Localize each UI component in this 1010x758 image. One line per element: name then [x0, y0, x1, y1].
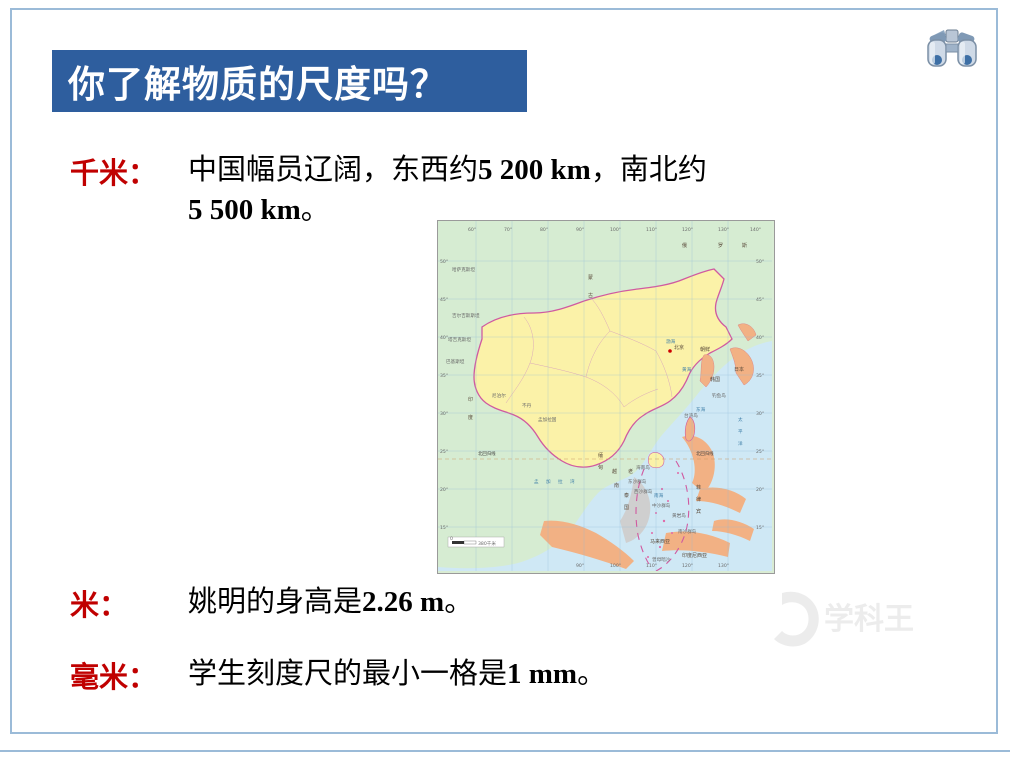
row-metre: 米： 姚明的身高是2.26 m。	[70, 582, 970, 624]
svg-text:北回归线: 北回归线	[696, 450, 714, 457]
row-kilometre-text-end: 。	[301, 192, 330, 226]
svg-text:中沙群岛: 中沙群岛	[652, 502, 671, 509]
svg-text:90°: 90°	[576, 563, 584, 569]
svg-text:110°: 110°	[646, 563, 657, 569]
svg-text:北回归线: 北回归线	[478, 450, 496, 457]
svg-text:30°: 30°	[756, 411, 764, 417]
svg-text:律: 律	[696, 496, 701, 503]
svg-text:尼泊尔: 尼泊尔	[492, 392, 506, 399]
svg-text:孟: 孟	[534, 478, 539, 485]
svg-text:罗: 罗	[718, 243, 723, 249]
svg-text:20°: 20°	[440, 487, 448, 493]
row-kilometre-value1: 5 200 km	[478, 154, 591, 186]
svg-text:黄海: 黄海	[682, 366, 692, 373]
svg-text:110°: 110°	[646, 227, 657, 233]
row-metre-label: 米：	[70, 582, 188, 624]
svg-text:古: 古	[588, 292, 593, 299]
svg-text:孟加拉国: 孟加拉国	[538, 416, 557, 423]
svg-text:80°: 80°	[540, 227, 548, 233]
slide-frame: 你了解物质的尺度吗？ 千米： 中	[10, 8, 998, 734]
svg-text:130°: 130°	[718, 563, 729, 569]
svg-text:南沙群岛: 南沙群岛	[678, 528, 697, 535]
svg-text:巴基斯坦: 巴基斯坦	[446, 358, 465, 365]
row-millimetre-value1: 1 mm	[507, 658, 577, 690]
svg-text:120°: 120°	[682, 563, 693, 569]
svg-text:拉: 拉	[558, 478, 563, 485]
svg-text:50°: 50°	[440, 259, 448, 265]
svg-text:25°: 25°	[756, 449, 764, 455]
svg-text:东沙群岛: 东沙群岛	[628, 478, 647, 485]
svg-text:西沙群岛: 西沙群岛	[634, 488, 653, 495]
svg-text:380千米: 380千米	[478, 540, 496, 547]
svg-text:45°: 45°	[756, 297, 764, 303]
bottom-divider	[0, 750, 1010, 752]
svg-text:蒙: 蒙	[588, 274, 593, 281]
svg-text:海南岛: 海南岛	[636, 464, 650, 471]
svg-text:甸: 甸	[598, 464, 603, 471]
svg-text:不丹: 不丹	[522, 403, 532, 409]
svg-text:曾母暗沙: 曾母暗沙	[652, 556, 671, 563]
svg-text:40°: 40°	[756, 335, 764, 341]
row-kilometre-text-part1: 中国幅员辽阔，东西约	[188, 152, 478, 186]
svg-text:东海: 东海	[696, 406, 706, 413]
svg-text:0: 0	[450, 536, 453, 542]
svg-text:老: 老	[628, 468, 633, 475]
svg-text:35°: 35°	[756, 373, 764, 379]
svg-text:度: 度	[468, 414, 473, 421]
row-kilometre-label: 千米：	[70, 150, 188, 192]
row-millimetre: 毫米： 学生刻度尺的最小一格是1 mm。	[70, 654, 970, 696]
svg-text:100°: 100°	[610, 563, 621, 569]
svg-text:泰: 泰	[624, 492, 629, 499]
china-map-image: .g{font-family:"DejaVu Sans",sans-serif;…	[437, 220, 775, 574]
svg-text:南: 南	[614, 482, 619, 489]
svg-text:塔吉克斯坦: 塔吉克斯坦	[448, 336, 471, 343]
svg-text:45°: 45°	[440, 297, 448, 303]
svg-text:北京: 北京	[674, 344, 684, 351]
row-kilometre: 千米： 中国幅员辽阔，东西约5 200 km，南北约5 500 km。	[70, 150, 970, 230]
svg-text:俄: 俄	[682, 242, 687, 249]
row-metre-value1: 2.26 m	[362, 586, 444, 618]
svg-text:吉尔吉斯斯坦: 吉尔吉斯斯坦	[452, 312, 480, 319]
svg-text:100°: 100°	[610, 227, 621, 233]
svg-text:洋: 洋	[738, 440, 743, 447]
slide-title-banner: 你了解物质的尺度吗？	[52, 50, 527, 112]
svg-text:马来西亚: 马来西亚	[650, 538, 670, 545]
svg-text:湾: 湾	[570, 478, 575, 485]
svg-text:南海: 南海	[654, 492, 664, 499]
svg-text:台湾岛: 台湾岛	[684, 412, 698, 419]
svg-text:30°: 30°	[440, 411, 448, 417]
svg-text:缅: 缅	[598, 452, 603, 459]
svg-text:太: 太	[738, 416, 743, 423]
svg-text:35°: 35°	[440, 373, 448, 379]
row-millimetre-text-part1: 学生刻度尺的最小一格是	[188, 656, 507, 690]
svg-text:加: 加	[546, 478, 551, 485]
svg-text:钓鱼岛: 钓鱼岛	[712, 392, 726, 399]
svg-text:60°: 60°	[468, 227, 476, 233]
svg-text:20°: 20°	[756, 487, 764, 493]
row-millimetre-text-end: 。	[577, 656, 606, 690]
svg-text:越: 越	[612, 468, 617, 475]
row-metre-text: 姚明的身高是2.26 m。	[188, 582, 473, 622]
svg-text:印度尼西亚: 印度尼西亚	[682, 552, 707, 559]
row-metre-text-part1: 姚明的身高是	[188, 584, 362, 618]
svg-text:70°: 70°	[504, 227, 512, 233]
row-kilometre-text-mid: ，南北约	[591, 152, 707, 186]
svg-text:15°: 15°	[756, 525, 764, 531]
svg-text:140°: 140°	[750, 227, 761, 233]
svg-text:宾: 宾	[696, 508, 701, 515]
row-kilometre-value2: 5 500 km	[188, 194, 301, 226]
svg-text:90°: 90°	[576, 227, 584, 233]
svg-text:黄岩岛: 黄岩岛	[672, 512, 686, 519]
row-metre-text-end: 。	[444, 584, 473, 618]
china-map-svg: .g{font-family:"DejaVu Sans",sans-serif;…	[438, 221, 772, 571]
row-kilometre-text: 中国幅员辽阔，东西约5 200 km，南北约5 500 km。	[188, 150, 928, 230]
svg-text:菲: 菲	[696, 484, 701, 491]
svg-text:15°: 15°	[440, 525, 448, 531]
svg-text:120°: 120°	[682, 227, 693, 233]
svg-text:印: 印	[468, 396, 473, 403]
binoculars-icon	[924, 24, 980, 72]
svg-text:40°: 40°	[440, 335, 448, 341]
svg-text:韩国: 韩国	[710, 376, 720, 383]
row-millimetre-label: 毫米：	[70, 654, 188, 696]
svg-text:平: 平	[738, 429, 743, 435]
svg-text:国: 国	[624, 505, 629, 511]
svg-text:130°: 130°	[718, 227, 729, 233]
svg-text:25°: 25°	[440, 449, 448, 455]
svg-text:斯: 斯	[742, 242, 747, 249]
svg-text:50°: 50°	[756, 259, 764, 265]
svg-text:日本: 日本	[734, 366, 744, 373]
row-millimetre-text: 学生刻度尺的最小一格是1 mm。	[188, 654, 606, 694]
svg-text:哈萨克斯坦: 哈萨克斯坦	[452, 266, 475, 273]
svg-text:渤海: 渤海	[666, 338, 676, 345]
svg-text:朝鲜: 朝鲜	[700, 346, 710, 353]
page-title: 你了解物质的尺度吗？	[52, 54, 448, 108]
